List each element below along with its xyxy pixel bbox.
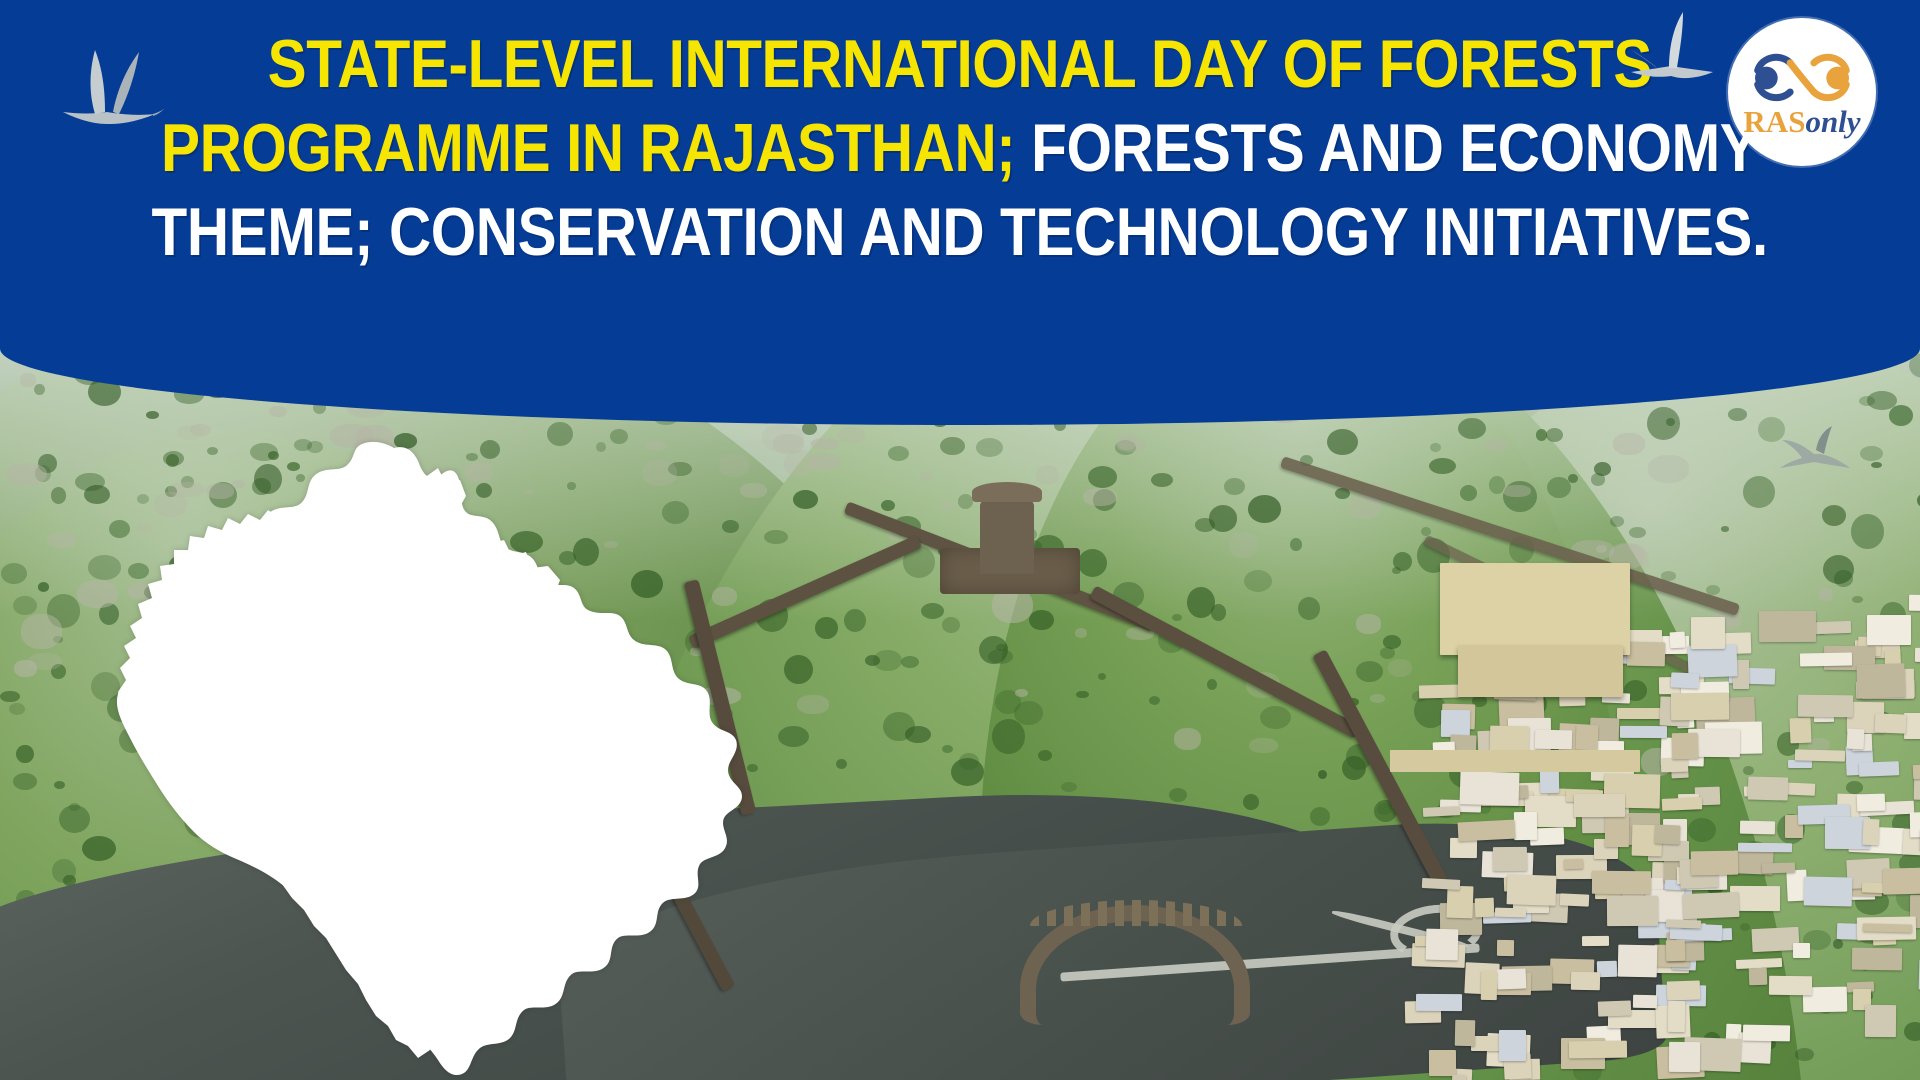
rock — [1249, 738, 1278, 753]
shrub — [1088, 466, 1118, 488]
shrub — [1078, 549, 1107, 577]
shrub — [1243, 794, 1260, 810]
town-building — [1912, 763, 1920, 779]
shrub — [34, 384, 44, 395]
town-building — [1795, 750, 1845, 762]
town-building — [1672, 733, 1698, 760]
town-building — [1668, 1001, 1685, 1033]
town-building — [1857, 663, 1906, 699]
rock — [1648, 455, 1689, 483]
town-building — [1618, 945, 1658, 978]
town-building — [1497, 940, 1514, 956]
town-building — [1514, 812, 1538, 840]
town-building — [1493, 847, 1527, 872]
town-building — [1571, 972, 1601, 991]
town-building — [1620, 726, 1667, 739]
shrub — [815, 617, 838, 638]
rock — [1229, 532, 1258, 557]
shrub — [1429, 458, 1456, 474]
town-building — [1426, 928, 1458, 959]
shrub — [940, 437, 965, 455]
shrub — [1851, 514, 1883, 549]
shrub — [873, 650, 901, 671]
town-building — [1682, 891, 1739, 918]
town-building — [1447, 886, 1474, 918]
shrub — [992, 719, 1025, 754]
shrub — [1076, 691, 1089, 699]
town-building — [1904, 712, 1920, 739]
rock — [1036, 465, 1060, 485]
bird-top-left-icon — [55, 32, 165, 147]
shrub — [1342, 756, 1366, 780]
town-building — [1662, 798, 1703, 812]
town-building — [1769, 976, 1812, 995]
town-building — [1865, 1005, 1896, 1037]
town-building — [1632, 995, 1657, 1008]
bird-landscape-icon — [1770, 420, 1860, 480]
town-building — [1867, 615, 1911, 645]
town-building — [1862, 819, 1879, 845]
title-line-3-text: THEME; CONSERVATION AND TECHNOLOGY INITI… — [152, 194, 1768, 270]
town-building — [1422, 806, 1459, 817]
shrub — [905, 726, 931, 743]
town-building — [1793, 942, 1810, 957]
title-line-1-text: STATE-LEVEL INTERNATIONAL DAY OF FORESTS — [268, 26, 1652, 102]
shrub — [1207, 679, 1217, 689]
shrub — [52, 859, 76, 883]
town-building — [1564, 859, 1583, 869]
town-building — [1788, 760, 1812, 768]
shrub — [1591, 473, 1605, 485]
shrub — [1721, 526, 1730, 532]
town-building — [1909, 595, 1920, 612]
shrub — [16, 745, 34, 763]
shrub — [1629, 527, 1646, 538]
rajasthan-map-overlay — [108, 440, 768, 1080]
town-building — [1481, 971, 1497, 1000]
rock — [811, 438, 839, 450]
rock — [797, 695, 829, 714]
shrub — [1460, 485, 1477, 501]
title-line-1: STATE-LEVEL INTERNATIONAL DAY OF FORESTS — [268, 22, 1652, 106]
town-building — [1422, 878, 1461, 890]
town-building — [1857, 793, 1886, 811]
town-building — [1560, 893, 1590, 907]
town-building — [1419, 685, 1461, 699]
shrub — [1, 563, 27, 584]
shrub — [59, 805, 90, 833]
town-building — [1669, 632, 1684, 649]
shrub — [1546, 428, 1563, 442]
amer-palace-block — [1440, 563, 1630, 655]
town-building — [1416, 994, 1462, 1011]
shrub — [1260, 706, 1291, 729]
title-line-2-white-text: FORESTS AND ECONOMY — [1016, 110, 1759, 186]
rock — [1117, 433, 1137, 450]
town-building — [1691, 617, 1725, 650]
rock — [1484, 440, 1507, 451]
bird-top-right-icon — [1625, 2, 1725, 102]
rock — [784, 450, 817, 477]
poster-canvas: STATE-LEVEL INTERNATIONAL DAY OF FORESTS… — [0, 0, 1920, 1080]
shrub — [901, 656, 919, 668]
town-building — [1748, 777, 1789, 801]
town-building — [1803, 877, 1852, 907]
town-building — [1863, 923, 1912, 933]
shrub — [1822, 505, 1846, 526]
shrub — [1647, 407, 1680, 440]
town-building — [1738, 842, 1792, 852]
town-building — [1691, 851, 1739, 876]
logo-ras-text: RAS — [1743, 104, 1805, 139]
logo-wordmark: RASonly — [1743, 106, 1860, 137]
shrub — [51, 487, 66, 503]
town-building — [1499, 1030, 1526, 1061]
shrub — [1430, 443, 1441, 451]
town-building — [1759, 611, 1817, 642]
town-building — [1574, 794, 1625, 818]
town-building — [1914, 777, 1920, 801]
shrub — [942, 617, 959, 633]
shrub — [793, 490, 817, 508]
rock — [941, 503, 954, 511]
amer-terrace-wall — [1390, 750, 1640, 772]
hillside-town — [1400, 545, 1920, 1080]
town-building — [1883, 867, 1920, 894]
amer-palace-block-lower — [1458, 645, 1623, 697]
town-building — [1798, 695, 1854, 718]
shrub — [1458, 418, 1486, 439]
rock — [1075, 628, 1087, 638]
town-building — [1598, 1001, 1632, 1017]
shrub — [38, 582, 50, 592]
rock — [920, 472, 932, 481]
rock — [1174, 728, 1201, 750]
rock — [21, 614, 61, 649]
watchtower — [980, 500, 1034, 574]
shrub — [1356, 661, 1383, 681]
town-building — [1743, 1025, 1790, 1042]
title-line-2-yellow-text: PROGRAMME IN RAJASTHAN; — [161, 110, 1015, 186]
shrub — [84, 485, 110, 504]
town-building — [1914, 647, 1920, 661]
town-building — [1506, 874, 1555, 905]
town-building — [1661, 757, 1688, 772]
rock — [47, 532, 77, 548]
town-building — [1749, 968, 1767, 986]
town-building — [1671, 692, 1729, 720]
shrub — [1889, 405, 1913, 425]
shrub — [942, 745, 953, 753]
town-building — [1790, 718, 1812, 744]
town-building — [1495, 908, 1527, 918]
shrub — [1380, 647, 1395, 659]
town-building — [1852, 948, 1902, 971]
rasonly-logo[interactable]: RASonly — [1728, 18, 1876, 166]
town-building — [1627, 642, 1665, 667]
rock — [1613, 433, 1646, 454]
rock — [1083, 488, 1117, 506]
town-building — [1655, 824, 1681, 844]
town-building — [1875, 713, 1907, 733]
shrub — [1327, 429, 1357, 455]
shrub — [784, 655, 813, 684]
town-building — [1666, 940, 1686, 961]
shrub — [1209, 505, 1237, 531]
town-building — [1460, 772, 1520, 807]
shrub — [1172, 614, 1182, 621]
town-building — [1667, 980, 1701, 1000]
shrub — [1298, 597, 1321, 620]
rock — [6, 463, 47, 485]
shrub — [13, 773, 37, 790]
town-building — [1592, 871, 1651, 895]
logo-only-text: only — [1805, 104, 1860, 139]
shrub — [1224, 478, 1245, 495]
rock — [1356, 614, 1381, 633]
rock — [28, 653, 62, 670]
shrub — [1860, 446, 1883, 462]
rock — [20, 373, 36, 387]
town-building — [1740, 820, 1775, 833]
town-building — [1800, 652, 1853, 666]
rock — [838, 427, 865, 443]
shrub — [13, 596, 36, 615]
town-building — [1475, 898, 1495, 918]
title-line-2: PROGRAMME IN RAJASTHAN; FORESTS AND ECON… — [161, 106, 1758, 190]
town-building — [1535, 730, 1572, 750]
shrub — [958, 494, 973, 508]
town-building — [1670, 672, 1699, 688]
shrub — [1728, 408, 1747, 421]
town-building — [1451, 1075, 1466, 1080]
town-building — [1429, 1050, 1456, 1077]
rock — [1503, 485, 1531, 497]
shrub — [1038, 750, 1052, 761]
rock — [762, 424, 804, 452]
rock — [1015, 689, 1029, 697]
town-building — [1669, 1042, 1700, 1072]
shrub — [9, 703, 25, 715]
town-building — [1607, 896, 1658, 926]
shrub — [836, 759, 847, 769]
town-building — [1457, 820, 1515, 842]
shrub — [1743, 476, 1775, 508]
town-building — [1496, 968, 1526, 989]
infinity-loop-icon — [1748, 52, 1856, 104]
town-building — [1582, 936, 1609, 946]
town-building — [1605, 815, 1629, 848]
shrub — [921, 603, 944, 619]
shrub — [1151, 473, 1173, 487]
town-building — [1569, 1041, 1627, 1058]
title-line-3: THEME; CONSERVATION AND TECHNOLOGY INITI… — [152, 190, 1768, 274]
town-building — [1858, 761, 1899, 777]
town-building — [1910, 812, 1920, 838]
town-building — [1847, 728, 1865, 749]
town-building — [1471, 1036, 1501, 1051]
town-building — [1576, 725, 1599, 751]
rock — [1370, 694, 1385, 703]
rock — [269, 406, 287, 417]
town-building — [1762, 862, 1795, 873]
town-building — [1455, 1020, 1475, 1047]
shrub — [1547, 477, 1571, 498]
town-building — [1666, 919, 1702, 928]
shrub — [1310, 807, 1330, 826]
